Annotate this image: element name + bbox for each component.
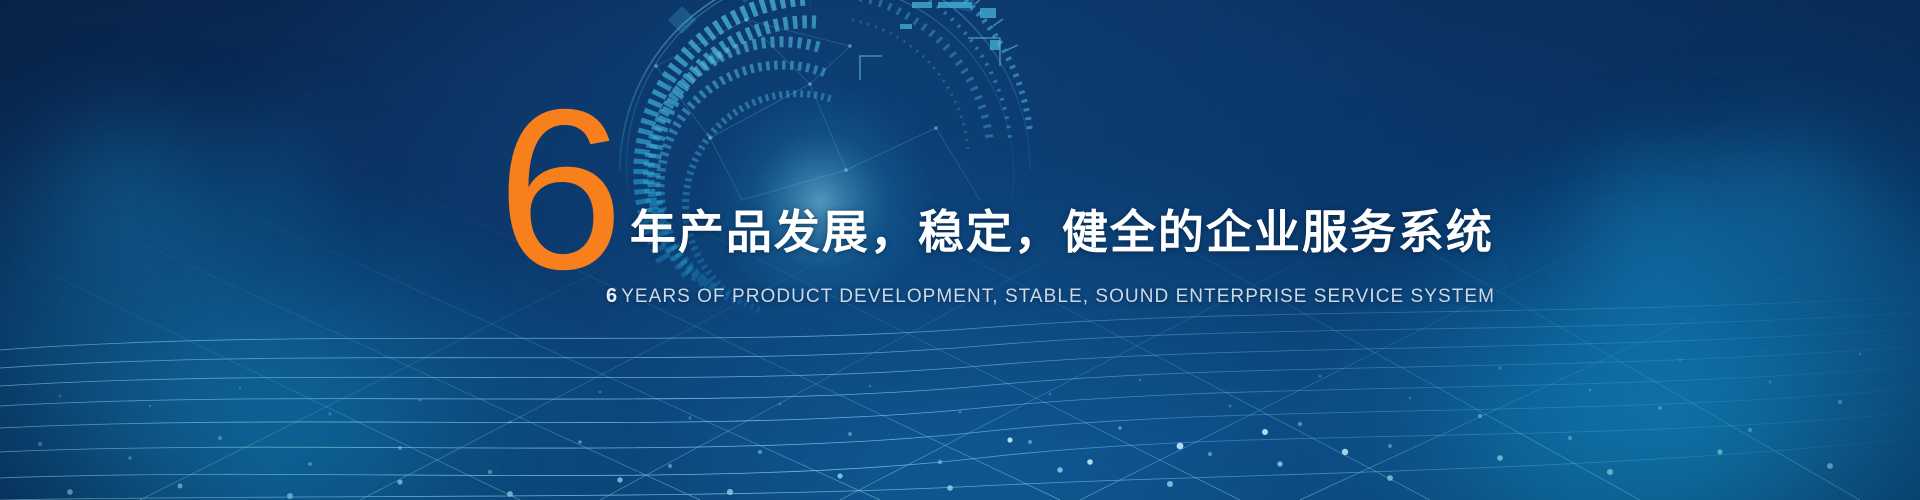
headline-number: 6 xyxy=(497,102,620,280)
subline-text: YEARS OF PRODUCT DEVELOPMENT, STABLE, SO… xyxy=(621,286,1495,307)
hero-banner: 6 年产品发展，稳定，健全的企业服务系统 6YEARS OF PRODUCT D… xyxy=(0,0,1920,500)
headline-row: 6 年产品发展，稳定，健全的企业服务系统 xyxy=(497,96,1494,274)
subline-number: 6 xyxy=(606,285,618,307)
banner-copy: 6 年产品发展，稳定，健全的企业服务系统 6YEARS OF PRODUCT D… xyxy=(0,0,1920,500)
headline-text: 年产品发展，稳定，健全的企业服务系统 xyxy=(630,196,1494,274)
subline: 6YEARS OF PRODUCT DEVELOPMENT, STABLE, S… xyxy=(606,285,1495,308)
